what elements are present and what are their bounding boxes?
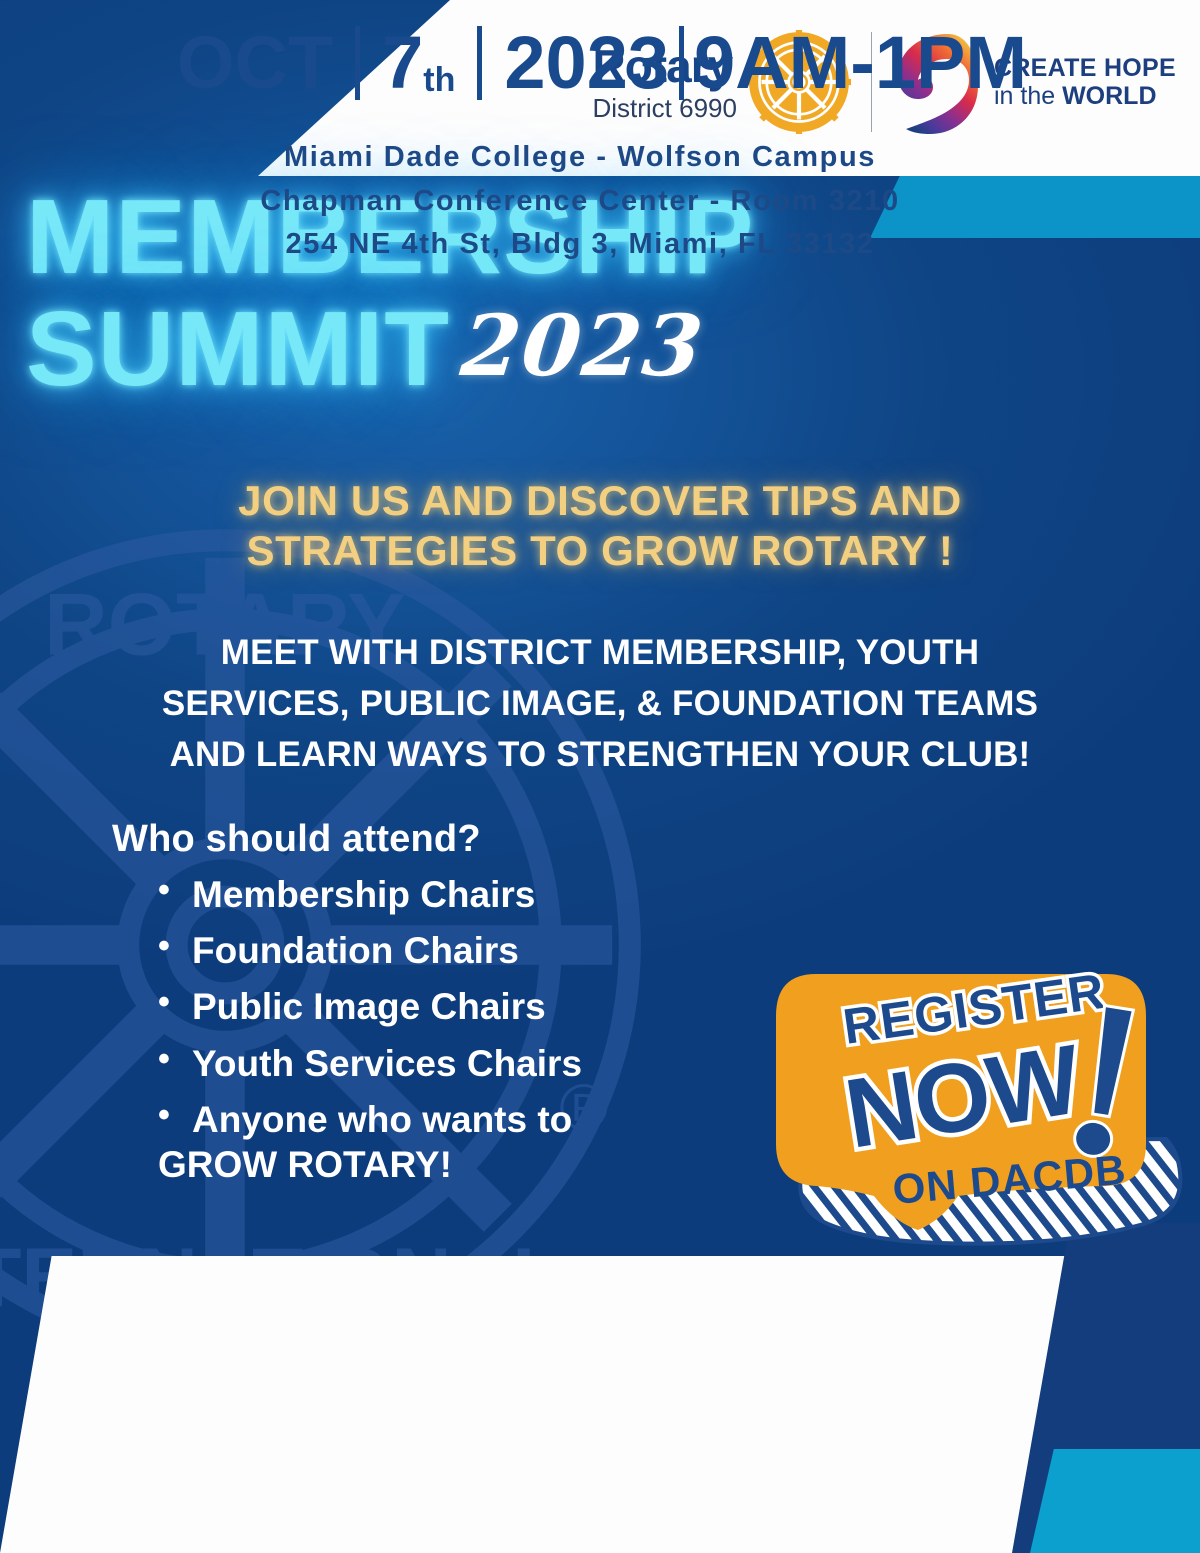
date-day-suffix: th	[423, 61, 455, 99]
list-item: Membership Chairs	[158, 867, 582, 923]
date-divider	[355, 26, 360, 100]
list-item: Youth Services Chairs	[158, 1036, 582, 1092]
poster-canvas: ROTARY INTERNATIONAL ® Rotary District 6…	[0, 0, 1200, 1553]
bottom-corner-cyan-shape	[1030, 1449, 1200, 1553]
body-line-2: SERVICES, PUBLIC IMAGE, & FOUNDATION TEA…	[0, 679, 1200, 730]
register-now-badge[interactable]: REGISTER NOW ON DACDB	[768, 966, 1188, 1276]
venue-line-1: Miami Dade College - Wolfson Campus	[0, 136, 1160, 180]
date-month: OCT	[133, 26, 333, 100]
subheadline-line-1: JOIN US AND DISCOVER TIPS AND	[0, 476, 1200, 526]
audience-section: Who should attend? Membership Chairs Fou…	[112, 818, 582, 1187]
audience-heading: Who should attend?	[112, 818, 582, 861]
subheadline: JOIN US AND DISCOVER TIPS AND STRATEGIES…	[0, 476, 1200, 575]
date-day: 7th	[382, 26, 455, 100]
venue-address: Miami Dade College - Wolfson Campus Chap…	[0, 136, 1160, 267]
title-line-2: SUMMIT	[26, 298, 450, 402]
venue-line-2: Chapman Conference Center - Room 3210	[0, 180, 1160, 224]
event-time: 9AM-1PM	[694, 26, 1027, 100]
audience-list: Membership Chairs Foundation Chairs Publ…	[158, 867, 582, 1148]
body-line-1: MEET WITH DISTRICT MEMBERSHIP, YOUTH	[0, 628, 1200, 679]
event-date-row: OCT 7th 2023 9AM-1PM	[0, 26, 1160, 100]
title-line-2-row: SUMMIT 2023	[0, 298, 1200, 402]
date-day-number: 7	[382, 21, 423, 104]
body-line-3: AND LEARN WAYS TO STRENGTHEN YOUR CLUB!	[0, 730, 1200, 781]
subheadline-line-2: STRATEGIES TO GROW ROTARY !	[0, 526, 1200, 576]
list-item: Foundation Chairs	[158, 923, 582, 979]
date-divider	[477, 26, 482, 100]
venue-line-3: 254 NE 4th St, Bldg 3, Miami, FL 33132	[0, 223, 1160, 267]
list-item: Anyone who wants to	[158, 1092, 582, 1148]
body-copy: MEET WITH DISTRICT MEMBERSHIP, YOUTH SER…	[0, 628, 1200, 780]
audience-list-tail: GROW ROTARY!	[158, 1144, 582, 1187]
list-item: Public Image Chairs	[158, 979, 582, 1035]
title-year: 2023	[458, 304, 709, 388]
date-divider	[679, 26, 684, 100]
date-year: 2023	[504, 26, 669, 100]
